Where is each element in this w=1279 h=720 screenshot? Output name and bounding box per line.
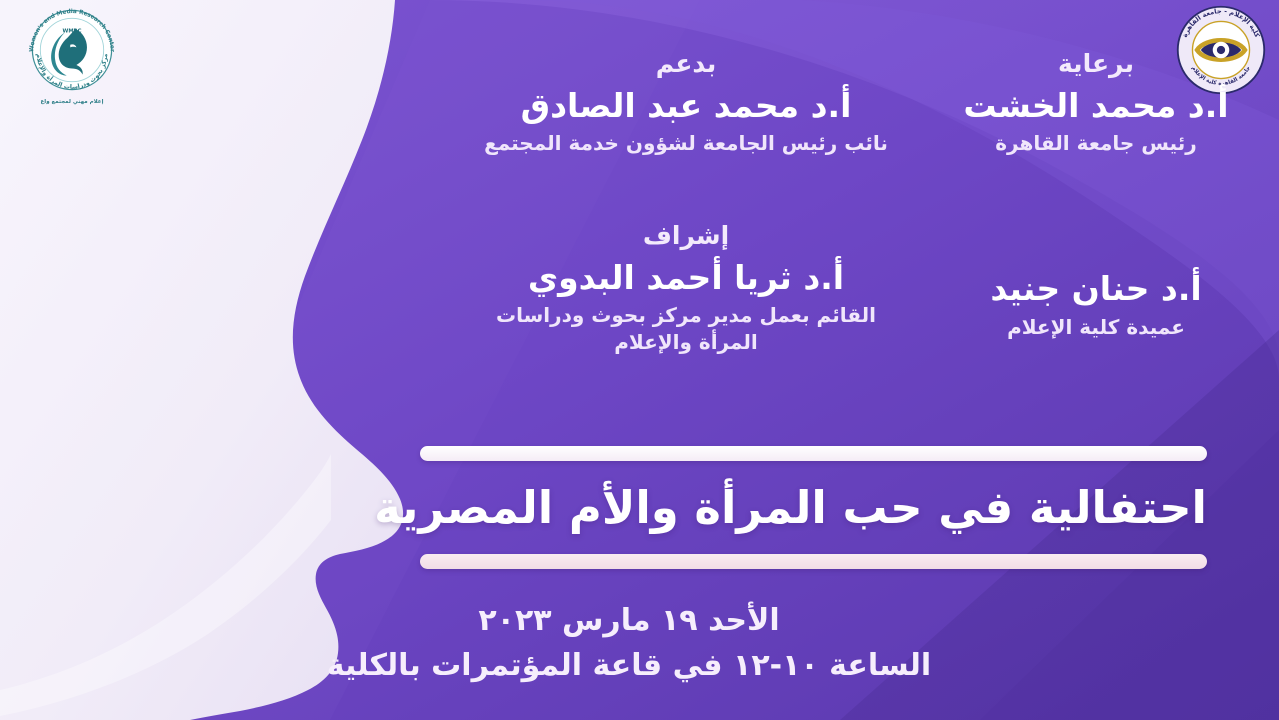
title-rule-bottom: [420, 554, 1207, 569]
support-name: أ.د محمد عبد الصادق: [471, 86, 901, 126]
credit-block-supervisor: إشراف أ.د ثريا أحمد البدوي القائم بعمل م…: [471, 222, 901, 356]
dean-name: أ.د حنان جنيد: [931, 269, 1261, 309]
supervisor-kicker: إشراف: [471, 222, 901, 251]
svg-text:WMRC: WMRC: [63, 28, 82, 34]
event-time-venue: الساعة ١٠-١٢ في قاعة المؤتمرات بالكلية: [139, 643, 1119, 688]
wmrc-logo-mark: WMRC Women's and Media Research Center م…: [18, 6, 126, 94]
supervisor-role: القائم بعمل مدير مركز بحوث ودراسات المرأ…: [471, 302, 901, 356]
event-details: الأحد ١٩ مارس ٢٠٢٣ الساعة ١٠-١٢ في قاعة …: [139, 598, 1119, 688]
wmrc-logo: WMRC Women's and Media Research Center م…: [12, 6, 132, 106]
support-kicker: بدعم: [471, 50, 901, 79]
support-role: نائب رئيس الجامعة لشؤون خدمة المجتمع: [471, 130, 901, 157]
credit-block-support: بدعم أ.د محمد عبد الصادق نائب رئيس الجام…: [471, 50, 901, 157]
credit-block-dean: أ.د حنان جنيد عميدة كلية الإعلام: [931, 262, 1261, 341]
patron-role: رئيس جامعة القاهرة: [931, 130, 1261, 157]
title-band: احتفالية في حب المرأة والأم المصرية: [420, 446, 1207, 569]
wmrc-logo-caption: إعلام مهني لمجتمع واع: [12, 99, 132, 105]
event-date: الأحد ١٩ مارس ٢٠٢٣: [139, 598, 1119, 643]
title-rule-top: [420, 446, 1207, 461]
credit-block-patron: برعاية أ.د محمد الخشت رئيس جامعة القاهرة: [931, 50, 1261, 157]
patron-kicker: برعاية: [931, 50, 1261, 79]
supervisor-name: أ.د ثريا أحمد البدوي: [471, 258, 901, 298]
dean-role: عميدة كلية الإعلام: [931, 314, 1261, 341]
event-poster: WMRC Women's and Media Research Center م…: [0, 0, 1279, 720]
page-title: احتفالية في حب المرأة والأم المصرية: [420, 461, 1207, 554]
patron-name: أ.د محمد الخشت: [931, 86, 1261, 126]
